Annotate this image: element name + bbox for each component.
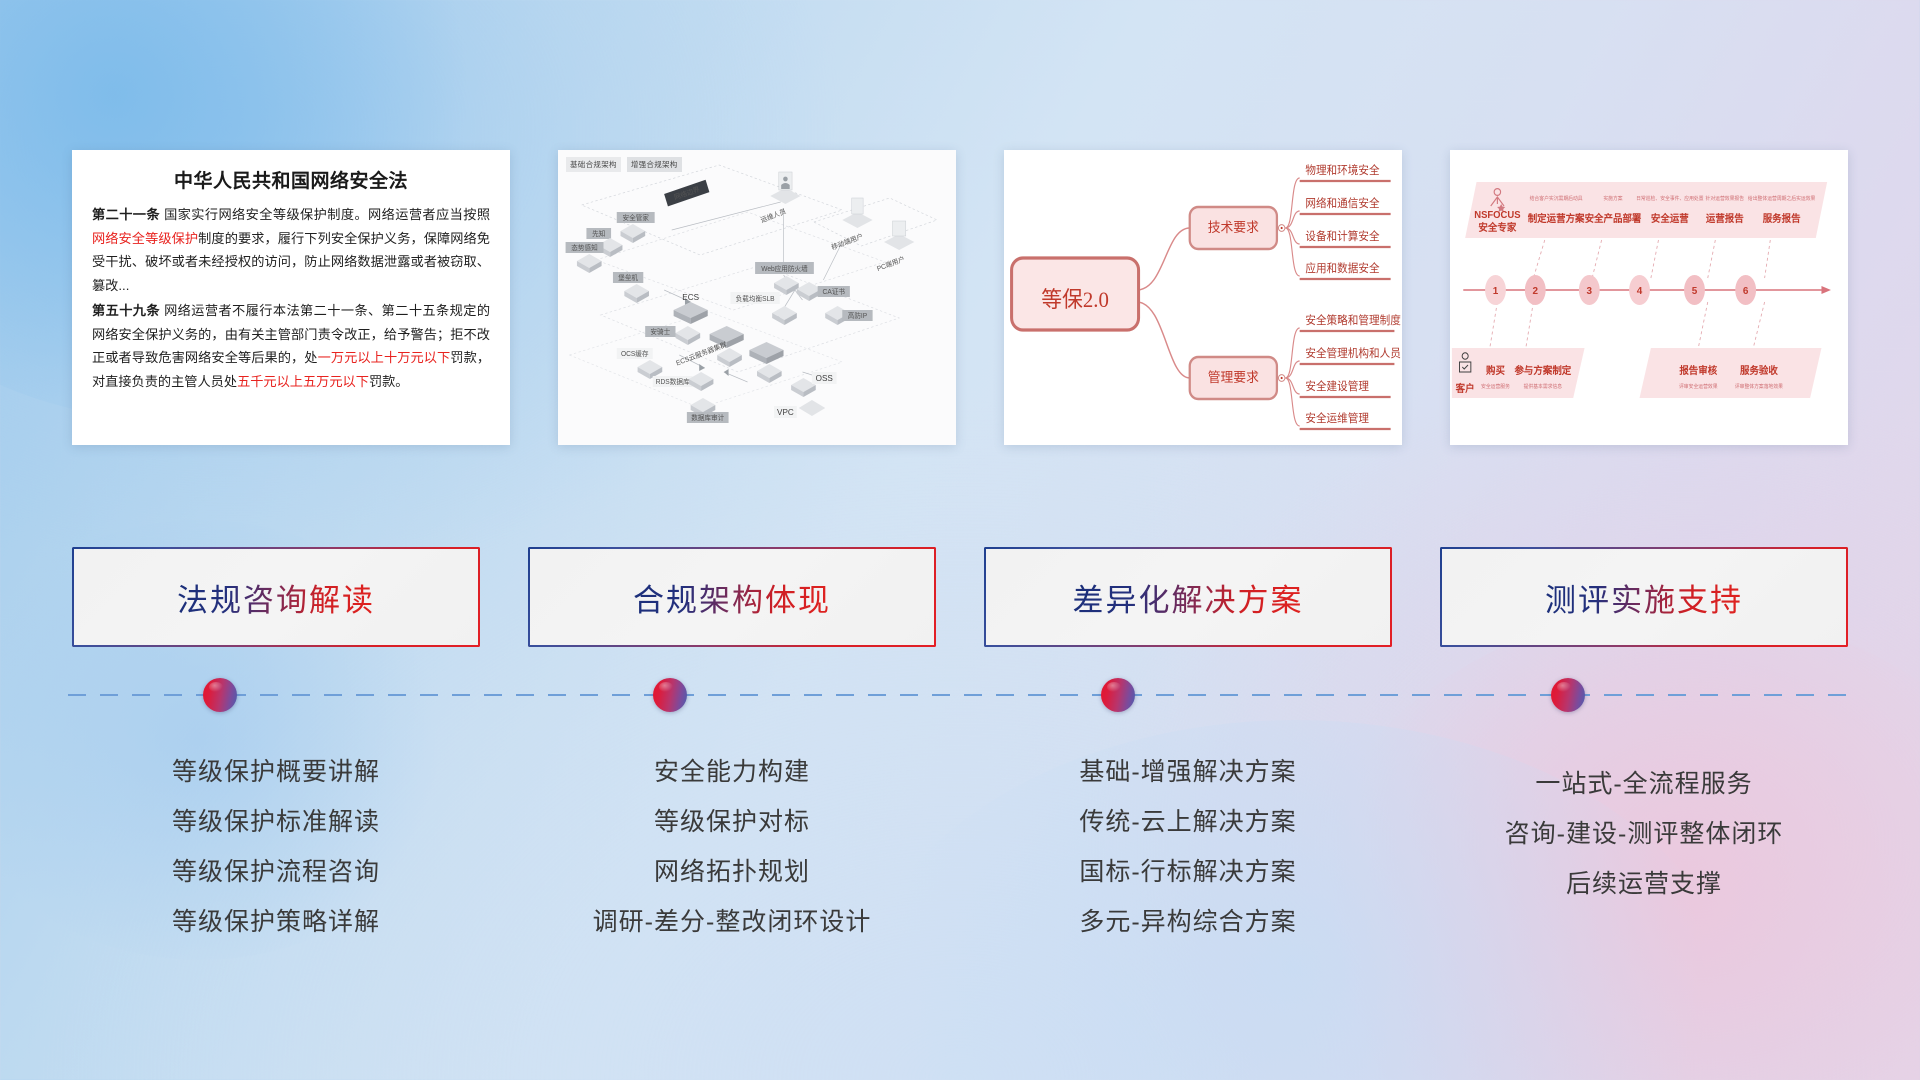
mindmap-branch-0-leaves: 物理和环境安全 网络和通信安全 设备和计算安全 应用和数据安全 [1300,163,1391,279]
svg-text:运维人员: 运维人员 [759,206,787,224]
card-architecture-diagram: 基础合规架构 增强合规架构 [558,150,956,445]
law-article-59: 第五十九条 网络运营者不履行本法第二十一条、第二十五条规定的网络安全保护义务的，… [92,299,490,393]
mindmap-leaf-1-2: 安全建设管理 [1305,379,1369,393]
law-article-21: 第二十一条 国家实行网络安全等级保护制度。网络运营者应当按照网络安全等级保护制度… [92,203,490,297]
axis-node-3: 4 [1637,286,1643,297]
svg-text:CA证书: CA证书 [823,287,846,296]
axis-node-4: 5 [1692,286,1698,297]
bottom-step-3-sub: 评审整体方案落地效果 [1735,383,1783,390]
law-article-21-text-a: 国家实行网络安全等级保护制度。网络运营者应当按照 [160,207,490,222]
section-bullets-row: 等级保护概要讲解 等级保护标准解读 等级保护流程咨询 等级保护策略详解 安全能力… [72,735,1848,985]
svg-text:负载均衡SLB: 负载均衡SLB [736,294,775,303]
bullet-item: 网络拓扑规划 [528,847,936,897]
timeline-dot-2 [1101,678,1135,712]
top-step-3-title: 运营报告 [1706,212,1744,225]
top-step-1-sub: 实施方案 [1603,195,1622,202]
bottom-step-1-title: 参与方案制定 [1514,364,1571,377]
bottom-step-2-sub: 评审安全运营效果 [1679,383,1718,390]
axis-node-0: 1 [1493,286,1499,297]
timeline-dot-3 [1551,678,1585,712]
section-title-label-2: 差异化解决方案 [1073,575,1304,620]
svg-text:态势感知: 态势感知 [571,243,598,252]
process-timeline [68,693,1858,696]
section-title-label-0: 法规咨询解读 [177,575,375,620]
bullet-item: 调研-差分-整改闭环设计 [528,897,936,947]
mindmap-leaf-1-1: 安全管理机构和人员 [1305,346,1401,360]
mindmap-leaf-0-1: 网络和通信安全 [1305,196,1379,210]
bullet-item: 等级保护概要讲解 [72,747,480,797]
svg-text:RDS数据库: RDS数据库 [656,377,690,386]
section-title-label-3: 测评实施支持 [1545,575,1743,620]
section-title-box-0[interactable]: 法规咨询解读 [72,547,480,647]
law-article-21-label: 第二十一条 [92,207,160,222]
svg-text:VPC: VPC [777,407,794,417]
bottom-step-0-title: 购买 [1486,364,1505,377]
bullet-item: 咨询-建设-测评整体闭环 [1440,809,1848,859]
bullet-item: 等级保护标准解读 [72,797,480,847]
image-cards-row: 中华人民共和国网络安全法 第二十一条 国家实行网络安全等级保护制度。网络运营者应… [72,150,1848,445]
svg-text:安骑士: 安骑士 [650,327,670,336]
bullet-item: 安全能力构建 [528,747,936,797]
section-title-box-1[interactable]: 合规架构体现 [528,547,936,647]
svg-text:先知: 先知 [592,229,605,238]
bullet-item: 多元-异构综合方案 [984,897,1392,947]
section-title-box-3[interactable]: 测评实施支持 [1440,547,1848,647]
mindmap-leaf-1-3: 安全运维管理 [1305,411,1369,425]
svg-text:安全管家: 安全管家 [622,213,649,222]
axis-node-5: 6 [1743,286,1749,297]
bullet-item: 后续运营支撑 [1440,859,1848,909]
svg-text:Web应用防火墙: Web应用防火墙 [761,264,808,273]
expert-label-line2: 安全专家 [1478,221,1516,234]
bullet-item: 基础-增强解决方案 [984,747,1392,797]
top-step-2-title: 安全运营 [1651,212,1689,225]
top-step-2-sub: 日常巡检、安全事件、应用处置 [1636,195,1704,202]
svg-text:OSS: OSS [816,373,834,383]
mindmap-leaf-0-3: 应用和数据安全 [1305,261,1379,275]
mindmap-root-label: 等保2.0 [1041,288,1109,313]
section-titles-row: 法规咨询解读 合规架构体现 差异化解决方案 测评实施支持 [72,547,1848,647]
bottom-step-1-sub: 提供基本需求信息 [1524,383,1563,390]
top-step-3-sub: 针对运营效果报告 [1706,195,1745,202]
timeline-dot-1 [653,678,687,712]
mindmap-svg: 等保2.0 技术要求 物理和环境安全 网络和通信安全 设备和计算安全 [1004,150,1402,445]
svg-text:高防IP: 高防IP [848,311,868,320]
law-article-21-highlight: 网络安全等级保护 [92,231,198,246]
bullet-item: 一站式-全流程服务 [1440,759,1848,809]
top-step-0-title: 制定运营方案 [1528,212,1585,225]
bullet-item: 国标-行标解决方案 [984,847,1392,897]
mindmap-leaf-0-0: 物理和环境安全 [1305,163,1379,177]
tab-enhanced-architecture[interactable]: 增强合规架构 [627,157,682,172]
law-article-59-highlight-2: 五千元以上五万元以下 [237,374,369,389]
bullet-item: 等级保护对标 [528,797,936,847]
svg-text:ECS: ECS [682,292,699,302]
expert-label-line1: NSFOCUS [1474,210,1521,221]
section-title-label-1: 合规架构体现 [633,575,831,620]
bullet-column-1: 安全能力构建 等级保护对标 网络拓扑规划 调研-差分-整改闭环设计 [528,735,936,985]
card-service-timeline: NSFOCUS 安全专家 结合客户实沉需期后动具 制定运营方案 实施方案 安全产… [1450,150,1848,445]
mindmap-branch-1-leaves: 安全策略和管理制度 安全管理机构和人员 安全建设管理 安全运维管理 [1300,313,1401,429]
tab-basic-architecture[interactable]: 基础合规架构 [566,157,621,172]
law-card-title: 中华人民共和国网络安全法 [92,166,490,193]
svg-text:移动端用户: 移动端用户 [830,231,864,252]
law-article-59-label: 第五十九条 [92,303,160,318]
section-title-box-2[interactable]: 差异化解决方案 [984,547,1392,647]
axis-node-2: 3 [1587,286,1593,297]
svg-text:OCS缓存: OCS缓存 [621,349,649,358]
top-step-0-sub: 结合客户实沉需期后动具 [1530,195,1583,202]
mindmap-branch-0-label: 技术要求 [1208,220,1259,235]
card-mindmap: 等保2.0 技术要求 物理和环境安全 网络和通信安全 设备和计算安全 [1004,150,1402,445]
bullet-item: 传统-云上解决方案 [984,797,1392,847]
timeline-bottom-banner-right [1640,348,1822,398]
bottom-step-0-sub: 安全运营服务 [1481,383,1510,390]
mindmap-branch-1-label: 管理要求 [1208,370,1259,385]
card-law-text: 中华人民共和国网络安全法 第二十一条 国家实行网络安全等级保护制度。网络运营者应… [72,150,510,445]
bullet-item: 等级保护流程咨询 [72,847,480,897]
mindmap-leaf-0-2: 设备和计算安全 [1305,229,1379,243]
bottom-step-3-title: 服务验收 [1740,364,1778,377]
top-step-4-sub: 给出整体运营周期之后实运效果 [1748,195,1816,202]
bullet-column-2: 基础-增强解决方案 传统-云上解决方案 国标-行标解决方案 多元-异构综合方案 [984,735,1392,985]
bullet-column-3: 一站式-全流程服务 咨询-建设-测评整体闭环 后续运营支撑 [1440,735,1848,985]
axis-node-1: 2 [1533,286,1539,297]
top-step-4-title: 服务报告 [1763,212,1801,225]
architecture-tabs: 基础合规架构 增强合规架构 [566,157,682,172]
bottom-step-2-title: 报告审核 [1679,364,1717,377]
svg-text:堡垒机: 堡垒机 [618,273,638,282]
timeline-axis-arrow [1821,286,1830,294]
mindmap-leaf-1-0: 安全策略和管理制度 [1305,313,1401,327]
service-timeline-svg: NSFOCUS 安全专家 结合客户实沉需期后动具 制定运营方案 实施方案 安全产… [1450,150,1848,445]
architecture-diagram-svg: 网络边界 安全管家 先知 态势感知 堡垒机 运维人员 [558,150,956,445]
law-article-59-text-c: 罚款。 [369,374,409,389]
law-article-59-highlight-1: 一万元以上十万元以下 [318,350,451,365]
svg-text:数据库审计: 数据库审计 [691,413,724,422]
bullet-column-0: 等级保护概要讲解 等级保护标准解读 等级保护流程咨询 等级保护策略详解 [72,735,480,985]
top-step-1-title: 安全产品部署 [1585,212,1642,225]
customer-label: 客户 [1455,382,1475,395]
timeline-dot-0 [203,678,237,712]
bullet-item: 等级保护策略详解 [72,897,480,947]
